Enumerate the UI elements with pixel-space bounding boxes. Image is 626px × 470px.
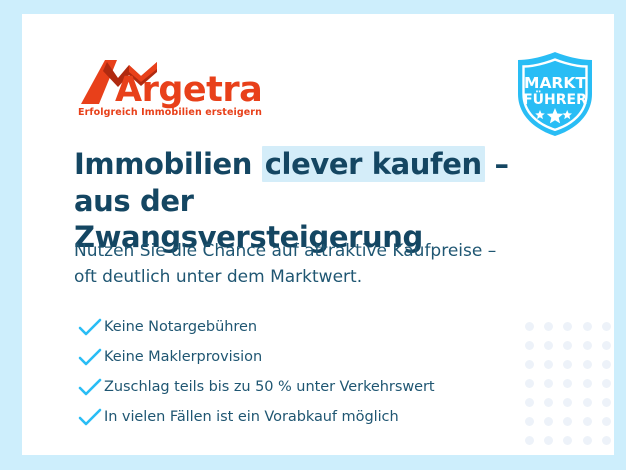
subheadline-line1: Nutzen Sie die Chance auf attraktive Kau… bbox=[74, 238, 554, 264]
dot bbox=[544, 322, 553, 331]
dot bbox=[563, 360, 572, 369]
advertisement-banner[interactable]: Argetra Erfolgreich Immobilien ersteiger… bbox=[0, 0, 626, 470]
benefit-list: Keine Notargebühren Keine Maklerprovisio… bbox=[76, 312, 506, 432]
dot bbox=[602, 417, 611, 426]
dot bbox=[525, 436, 534, 445]
dot bbox=[602, 379, 611, 388]
dot bbox=[525, 379, 534, 388]
dot bbox=[602, 360, 611, 369]
dot bbox=[583, 360, 592, 369]
dot bbox=[583, 379, 592, 388]
markt-fuehrer-badge: MARKT FÜHRER bbox=[512, 50, 598, 138]
dot bbox=[563, 322, 572, 331]
subheadline-line2: oft deutlich unter dem Marktwert. bbox=[74, 264, 554, 290]
dot bbox=[563, 417, 572, 426]
dot bbox=[583, 417, 592, 426]
headline-line1-post: – bbox=[485, 147, 509, 181]
headline-line1-highlight: clever kaufen bbox=[262, 146, 485, 182]
dot bbox=[583, 341, 592, 350]
dot bbox=[602, 322, 611, 331]
list-item: In vielen Fällen ist ein Vorabkauf mögli… bbox=[76, 402, 506, 432]
benefit-label: Zuschlag teils bis zu 50 % unter Verkehr… bbox=[104, 379, 435, 395]
dot bbox=[563, 341, 572, 350]
dot bbox=[583, 436, 592, 445]
benefit-label: Keine Maklerprovision bbox=[104, 349, 262, 365]
dot bbox=[602, 341, 611, 350]
list-item: Keine Notargebühren bbox=[76, 312, 506, 342]
benefit-label: Keine Notargebühren bbox=[104, 319, 257, 335]
dot bbox=[544, 341, 553, 350]
dot bbox=[525, 341, 534, 350]
badge-line1: MARKT bbox=[524, 74, 586, 92]
list-item: Keine Maklerprovision bbox=[76, 342, 506, 372]
badge-line2: FÜHRER bbox=[523, 90, 587, 108]
dot bbox=[563, 436, 572, 445]
dot bbox=[544, 379, 553, 388]
headline-line1-pre: Immobilien bbox=[74, 147, 262, 181]
logo-tagline: Erfolgreich Immobilien ersteigern bbox=[78, 107, 262, 118]
dot bbox=[525, 398, 534, 407]
dot bbox=[583, 322, 592, 331]
dot bbox=[525, 360, 534, 369]
check-icon bbox=[76, 316, 104, 338]
check-icon bbox=[76, 406, 104, 428]
banner-card: Argetra Erfolgreich Immobilien ersteiger… bbox=[22, 14, 614, 455]
logo-wordmark: Argetra bbox=[115, 70, 262, 110]
dot bbox=[544, 436, 553, 445]
dot bbox=[544, 398, 553, 407]
dot bbox=[525, 322, 534, 331]
dot-grid-decoration bbox=[520, 317, 614, 455]
shield-badge-icon: MARKT FÜHRER bbox=[512, 50, 598, 138]
subheadline: Nutzen Sie die Chance auf attraktive Kau… bbox=[74, 238, 554, 291]
dot bbox=[583, 398, 592, 407]
benefit-label: In vielen Fällen ist ein Vorabkauf mögli… bbox=[104, 409, 399, 425]
dot bbox=[544, 417, 553, 426]
dot bbox=[525, 417, 534, 426]
argetra-logo[interactable]: Argetra Erfolgreich Immobilien ersteiger… bbox=[77, 56, 277, 124]
dot bbox=[602, 398, 611, 407]
dot bbox=[602, 436, 611, 445]
dot bbox=[544, 360, 553, 369]
check-icon bbox=[76, 346, 104, 368]
check-icon bbox=[76, 376, 104, 398]
dot bbox=[563, 379, 572, 388]
list-item: Zuschlag teils bis zu 50 % unter Verkehr… bbox=[76, 372, 506, 402]
dot bbox=[563, 398, 572, 407]
